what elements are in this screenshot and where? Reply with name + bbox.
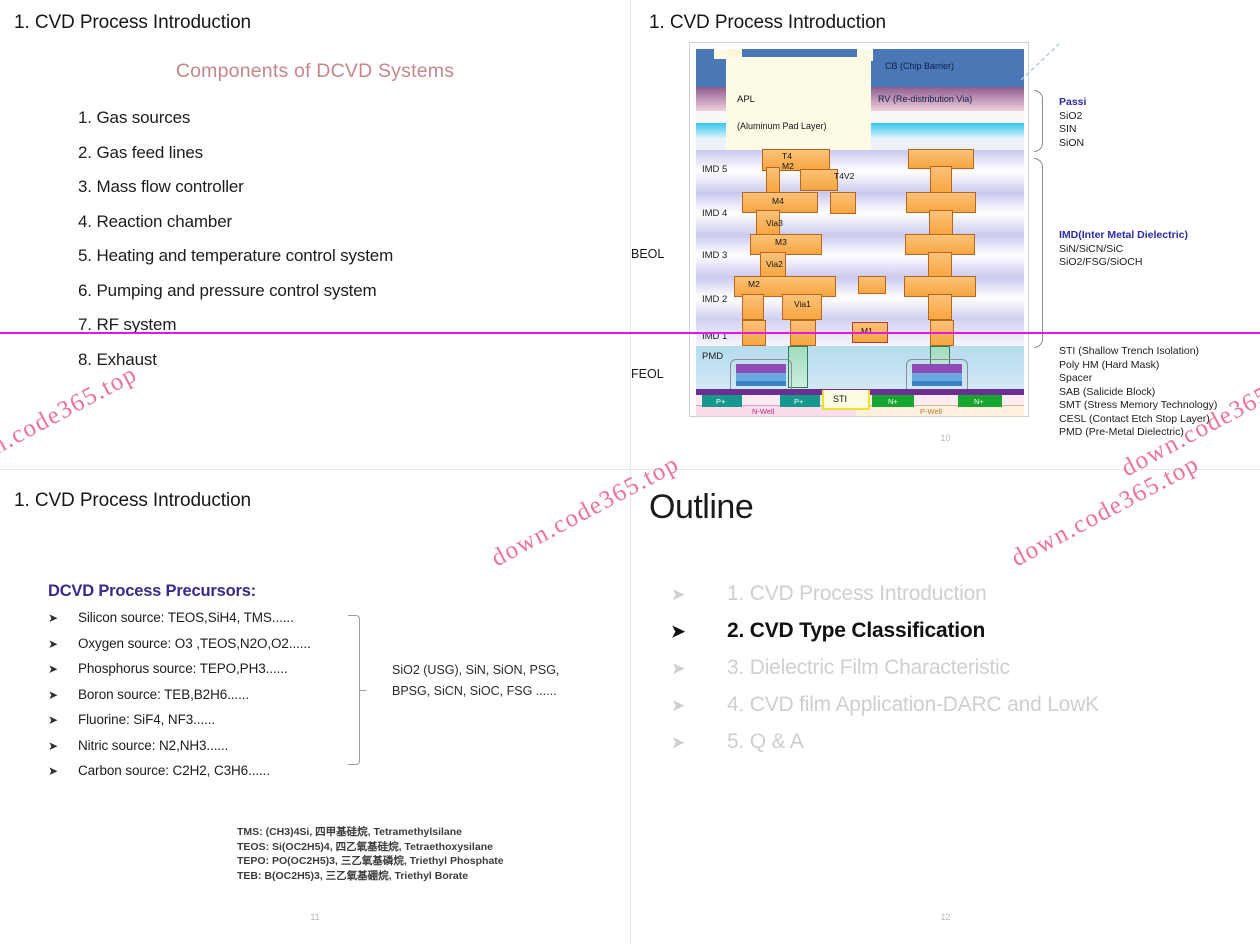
feol-line: SAB (Salicide Block) [1059, 386, 1217, 400]
slide-components-of-dcvd-systems[interactable]: 1. CVD Process Introduction Components o… [0, 0, 631, 470]
slide-grid: 1. CVD Process Introduction Components o… [0, 0, 1260, 944]
outline-list: ➤ 1. CVD Process Introduction ➤ 2. CVD T… [671, 582, 1099, 767]
cb-label: CB (Chip Barrier) [885, 61, 954, 71]
footnote-line: TEOS: Si(OC2H5)4, 四乙氧基硅烷, Tetraethoxysil… [237, 840, 504, 855]
footnote-line: TEPO: PO(OC2H5)3, 三乙氧基磷烷, Triethyl Phosp… [237, 854, 504, 869]
slide-dcvd-process-precursors[interactable]: 1. CVD Process Introduction DCVD Process… [0, 470, 631, 944]
imd2-label: IMD 2 [702, 294, 727, 305]
metal-right-via2 [928, 252, 952, 277]
sti-label: STI [833, 394, 847, 404]
arrow-bullet-icon: ➤ [671, 733, 727, 753]
nwell-label: N-Well [752, 407, 774, 416]
list-item: ➤ Nitric source: N2,NH3...... [48, 738, 368, 753]
slide-title: 1. CVD Process Introduction [649, 12, 886, 34]
beol-label: BEOL [631, 247, 664, 261]
imd4-label: IMD 4 [702, 208, 727, 219]
list-item: 8. Exhaust [78, 350, 393, 370]
page-number: 10 [631, 433, 1260, 443]
beol-feol-divider-rule [0, 332, 1260, 334]
list-item: 1. Gas sources [78, 108, 393, 128]
imd3-label: IMD 3 [702, 250, 727, 261]
gate-stack-left-nitride [736, 381, 786, 386]
cb-leader-line [1019, 40, 1079, 90]
gate-stack-left-poly [736, 364, 786, 373]
arrow-bullet-icon: ➤ [671, 696, 727, 716]
passivation-line: SiON [1059, 137, 1086, 151]
imd-line: SiN/SiCN/SiC [1059, 243, 1188, 257]
list-item: 5. Heating and temperature control syste… [78, 246, 393, 266]
imd-line: SiO2/FSG/SiOCH [1059, 256, 1188, 270]
p-plus-right-label: P+ [794, 397, 803, 406]
arrow-bullet-icon: ➤ [671, 585, 727, 605]
outline-item-3[interactable]: ➤ 3. Dielectric Film Characteristic [671, 656, 1099, 680]
precursor-text: Silicon source: TEOS,SiH4, TMS...... [78, 610, 294, 625]
p-plus-left-label: P+ [716, 397, 725, 406]
outline-item-label: 3. Dielectric Film Characteristic [727, 656, 1010, 680]
apl-notch-left [714, 49, 728, 59]
passivation-annotation: Passi SiO2 SIN SiON [1059, 96, 1086, 150]
apl-full-label: (Aluminum Pad Layer) [737, 121, 827, 131]
precursors-heading: DCVD Process Precursors: [48, 582, 256, 601]
arrow-bullet-icon: ➤ [48, 739, 78, 753]
outline-item-label: 2. CVD Type Classification [727, 619, 985, 643]
n-plus-left-label: N+ [888, 397, 898, 406]
feol-line: STI (Shallow Trench Isolation) [1059, 345, 1217, 359]
gate-stack-right-oxide [912, 373, 962, 381]
apl-label: APL [737, 94, 755, 105]
n-plus-right-label: N+ [974, 397, 984, 406]
precursors-brace [348, 615, 360, 765]
precursor-text: Phosphorus source: TEPO,PH3...... [78, 661, 288, 676]
list-item: 4. Reaction chamber [78, 212, 393, 232]
list-item: ➤ Fluorine: SiF4, NF3...... [48, 712, 368, 727]
arrow-bullet-icon: ➤ [671, 659, 727, 679]
passivation-line: SIN [1059, 123, 1086, 137]
imd-brace [1034, 158, 1043, 348]
precursor-text: Boron source: TEB,B2H6...... [78, 687, 249, 702]
list-item: ➤ Oxygen source: O3 ,TEOS,N2O,O2...... [48, 636, 368, 651]
gate-stack-left-oxide [736, 373, 786, 381]
precursors-list: ➤ Silicon source: TEOS,SiH4, TMS...... ➤… [48, 610, 368, 789]
list-item: ➤ Carbon source: C2H2, C3H6...... [48, 763, 368, 778]
feol-annotation: STI (Shallow Trench Isolation) Poly HM (… [1059, 345, 1217, 440]
gate-stack-right-poly [912, 364, 962, 373]
metal-mid-via [830, 192, 856, 214]
feol-line: Poly HM (Hard Mask) [1059, 359, 1217, 373]
arrow-bullet-icon: ➤ [48, 637, 78, 651]
products-text: SiO2 (USG), SiN, SiON, PSG, BPSG, SiCN, … [392, 660, 559, 702]
gate-stack-right-nitride [912, 381, 962, 386]
arrow-bullet-icon: ➤ [48, 611, 78, 625]
pwell-label: P-Well [920, 407, 942, 416]
precursor-text: Fluorine: SiF4, NF3...... [78, 712, 215, 727]
arrow-bullet-icon: ➤ [671, 622, 727, 642]
pmd-label: PMD [702, 351, 723, 362]
via2-label: Via2 [766, 259, 783, 269]
slide-cvd-cross-section[interactable]: 1. CVD Process Introduction BEOL FEOL CB… [631, 0, 1260, 470]
metal-small-via [858, 276, 886, 294]
slide-title: 1. CVD Process Introduction [14, 490, 251, 512]
feol-line: Spacer [1059, 372, 1217, 386]
metal-t4v2 [800, 169, 838, 191]
arrow-bullet-icon: ➤ [48, 688, 78, 702]
list-item: 2. Gas feed lines [78, 143, 393, 163]
passivation-brace [1034, 90, 1043, 152]
slide-title: 1. CVD Process Introduction [14, 12, 251, 34]
imd5-band [696, 150, 1024, 192]
via3-label: Via3 [766, 218, 783, 228]
rv-label: RV (Re-distribution Via) [878, 94, 972, 104]
list-item: ➤ Phosphorus source: TEPO,PH3...... [48, 661, 368, 676]
arrow-bullet-icon: ➤ [48, 662, 78, 676]
outline-item-4[interactable]: ➤ 4. CVD film Application-DARC and LowK [671, 693, 1099, 717]
m2-top-label: M2 [782, 161, 794, 171]
passivation-line: SiO2 [1059, 110, 1086, 124]
passivation-header: Passi [1059, 96, 1086, 110]
list-item: ➤ Boron source: TEB,B2H6...... [48, 687, 368, 702]
outline-item-1[interactable]: ➤ 1. CVD Process Introduction [671, 582, 1099, 606]
feol-label: FEOL [631, 367, 664, 381]
feol-line: SMT (Stress Memory Technology) [1059, 399, 1217, 413]
arrow-bullet-icon: ➤ [48, 713, 78, 727]
m2-label: M2 [748, 279, 760, 289]
m4-label: M4 [772, 196, 784, 206]
metal-right-top-stem [930, 166, 952, 194]
footnote-line: TMS: (CH3)4Si, 四甲基硅烷, Tetramethylsilane [237, 825, 504, 840]
imd-annotation: IMD(Inter Metal Dielectric) SiN/SiCN/SiC… [1059, 229, 1188, 270]
footnotes: TMS: (CH3)4Si, 四甲基硅烷, Tetramethylsilane … [237, 825, 504, 883]
list-item: ➤ Silicon source: TEOS,SiH4, TMS...... [48, 610, 368, 625]
outline-item-5[interactable]: ➤ 5. Q & A [671, 730, 1099, 754]
arrow-bullet-icon: ➤ [48, 764, 78, 778]
components-list: 1. Gas sources 2. Gas feed lines 3. Mass… [78, 108, 393, 384]
page-title: Outline [649, 488, 753, 527]
imd5-label: IMD 5 [702, 164, 727, 175]
t4-label: T4 [782, 151, 792, 161]
metal-right-via1 [928, 294, 952, 320]
cross-section-canvas: CB (Chip Barrier) RV (Re-distribution Vi… [689, 42, 1029, 417]
page-number: 12 [631, 912, 1260, 922]
via1-label: Via1 [794, 299, 811, 309]
outline-item-label: 5. Q & A [727, 730, 804, 754]
list-item: 6. Pumping and pressure control system [78, 281, 393, 301]
metal-right-via3 [929, 210, 953, 235]
page-heading: Components of DCVD Systems [0, 60, 630, 83]
imd-header: IMD(Inter Metal Dielectric) [1059, 229, 1188, 243]
precursor-text: Oxygen source: O3 ,TEOS,N2O,O2...... [78, 636, 311, 651]
outline-item-2[interactable]: ➤ 2. CVD Type Classification [671, 619, 1099, 643]
outline-item-label: 1. CVD Process Introduction [727, 582, 987, 606]
metal-t4-stem [766, 167, 780, 193]
list-item: 3. Mass flow controller [78, 177, 393, 197]
metal-via1-left [742, 294, 764, 320]
slide-outline[interactable]: Outline ➤ 1. CVD Process Introduction ➤ … [631, 470, 1260, 944]
apl-riser [857, 49, 873, 61]
precursor-text: Nitric source: N2,NH3...... [78, 738, 228, 753]
m3-label: M3 [775, 237, 787, 247]
page-number: 11 [0, 912, 630, 922]
outline-item-label: 4. CVD film Application-DARC and LowK [727, 693, 1099, 717]
feol-line: CESL (Contact Etch Stop Layer) [1059, 413, 1217, 427]
cross-section-diagram: BEOL FEOL CB (Chip Barrier) RV (Re-distr… [689, 42, 1099, 427]
t4v2-label: T4V2 [834, 171, 854, 181]
footnote-line: TEB: B(OC2H5)3, 三乙氧基硼烷, Triethyl Borate [237, 869, 504, 884]
m1-label: M1 [861, 326, 873, 336]
precursor-text: Carbon source: C2H2, C3H6...... [78, 763, 270, 778]
